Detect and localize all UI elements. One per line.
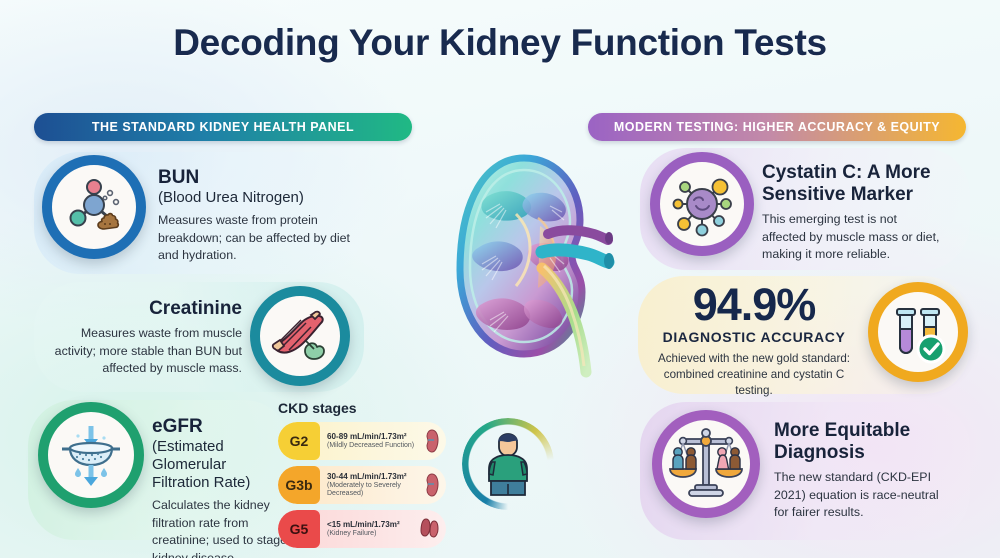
ckd-stage-description: (Mildly Decreased Function): [327, 442, 420, 450]
kidney-icon: [420, 472, 440, 498]
ckd-stage-code: G2: [278, 422, 320, 460]
muscle-icon: [250, 286, 350, 386]
cystatin-c-text-block: Cystatin C: A More Sensitive Marker This…: [762, 162, 940, 264]
ckd-stage-description: (Kidney Failure): [327, 530, 420, 538]
equity-heading: More Equitable Diagnosis: [774, 420, 946, 464]
egfr-body: Calculates the kidney filtration rate fr…: [152, 497, 287, 558]
egfr-heading: eGFR: [152, 416, 287, 438]
ckd-stage-row: G2 60-89 mL/min/1.73m² (Mildly Decreased…: [278, 422, 446, 460]
cystatin-c-heading: Cystatin C: A More Sensitive Marker: [762, 162, 940, 206]
protein-molecule-icon: [650, 152, 754, 256]
egfr-text-block: eGFR (Estimated Glomerular Filtration Ra…: [152, 416, 287, 558]
kidney-cross-section-illustration: [420, 148, 620, 400]
test-tubes-check-icon: [868, 282, 968, 382]
accuracy-value: 94.9%: [648, 282, 860, 327]
creatinine-body: Measures waste from muscle activity; mor…: [52, 325, 242, 378]
section-banner-modern-testing: MODERN TESTING: HIGHER ACCURACY & EQUITY: [588, 113, 966, 141]
balance-scales-icon: [652, 410, 760, 518]
kidney-pair-icon: [418, 516, 440, 542]
equity-body: The new standard (CKD-EPI 2021) equation…: [774, 469, 946, 522]
ckd-stage-range: 60-89 mL/min/1.73m²: [327, 432, 420, 441]
bun-heading: BUN: [158, 167, 358, 189]
ckd-stage-row: G3b 30-44 mL/min/1.73m² (Moderately to S…: [278, 466, 446, 504]
creatinine-heading: Creatinine: [52, 298, 242, 320]
ckd-stage-description: (Moderately to Severely Decreased): [327, 482, 420, 498]
ckd-stage-range: 30-44 mL/min/1.73m²: [327, 472, 420, 481]
person-figure-icon: [462, 418, 554, 510]
molecule-icon: [42, 155, 146, 259]
page-title: Decoding Your Kidney Function Tests: [0, 22, 1000, 64]
ckd-stages-title: CKD stages: [278, 400, 446, 416]
infographic-canvas: Decoding Your Kidney Function Tests THE …: [0, 0, 1000, 558]
accuracy-body: Achieved with the new gold standard: com…: [648, 351, 860, 399]
bun-body: Measures waste from protein breakdown; c…: [158, 212, 358, 265]
cystatin-c-body: This emerging test is not affected by mu…: [762, 211, 940, 264]
egfr-subheading: (Estimated Glomerular Filtration Rate): [152, 438, 287, 492]
filter-funnel-icon: [38, 402, 144, 508]
equity-text-block: More Equitable Diagnosis The new standar…: [774, 420, 946, 522]
ckd-stages-panel: CKD stages G2 60-89 mL/min/1.73m² (Mildl…: [278, 400, 446, 554]
accuracy-label: DIAGNOSTIC ACCURACY: [648, 329, 860, 345]
ckd-stage-row: G5 <15 mL/min/1.73m² (Kidney Failure): [278, 510, 446, 548]
section-banner-standard-panel: THE STANDARD KIDNEY HEALTH PANEL: [34, 113, 412, 141]
bun-text-block: BUN (Blood Urea Nitrogen) Measures waste…: [158, 167, 358, 265]
creatinine-text-block: Creatinine Measures waste from muscle ac…: [52, 298, 242, 378]
kidney-icon: [420, 428, 440, 454]
ckd-stage-code: G5: [278, 510, 320, 548]
ckd-stage-code: G3b: [278, 466, 320, 504]
ckd-stage-range: <15 mL/min/1.73m²: [327, 520, 420, 529]
accuracy-stat-block: 94.9% DIAGNOSTIC ACCURACY Achieved with …: [648, 282, 860, 399]
bun-subheading: (Blood Urea Nitrogen): [158, 189, 358, 207]
